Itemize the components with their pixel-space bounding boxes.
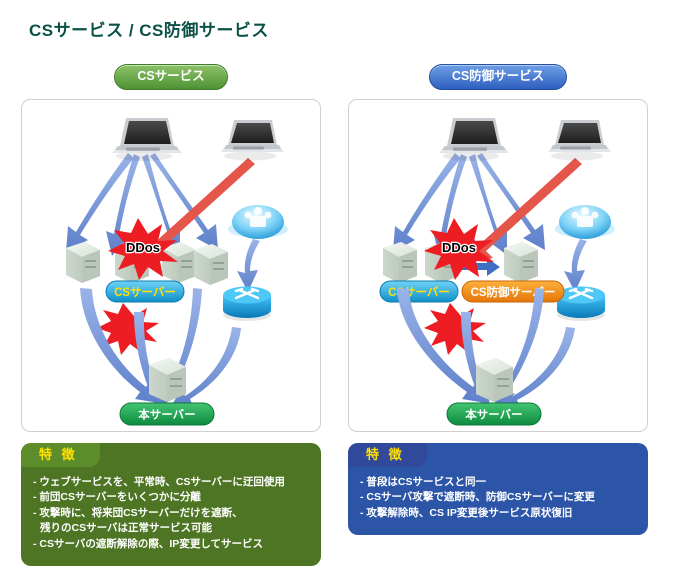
ddos-label: DDos [126, 240, 160, 255]
mid-server-icon-1 [66, 242, 100, 283]
laptop-icon-2 [221, 120, 284, 161]
cloud-icon [555, 205, 615, 239]
feature-box-cs-service: 特 徴 - ウェブサービスを、平常時、CSサーバーに迂回使用 - 前団CSサーバ… [21, 443, 321, 566]
cloud-icon [228, 205, 288, 239]
laptop-icon-2 [548, 120, 611, 161]
diagram-cs-defense-service: DDos CSサーバー CS防御サーバー [348, 99, 648, 432]
column-heading-cs-service: CSサービス [114, 64, 227, 90]
bottom-server-icon [476, 358, 513, 402]
bottom-server-icon [149, 358, 186, 402]
feature-tab-label: 特 徴 [366, 448, 405, 461]
svg-text:CSサーバー: CSサーバー [388, 286, 450, 299]
list-item: 残りのCSサーバは正常サービス可能 [33, 521, 311, 537]
ddos-label: DDos [442, 240, 476, 255]
cs-server-pill: CSサーバー [106, 281, 184, 302]
list-item: - ウェブサービスを、平常時、CSサーバーに迂回使用 [33, 475, 311, 491]
mid-server-icon-4 [194, 244, 228, 285]
column-cs-service: CSサービス [21, 64, 321, 566]
list-item: - 攻撃解除時、CS IP変更後サービス原状復旧 [360, 506, 638, 522]
feature-tab-label: 特 徴 [39, 448, 78, 461]
feature-box-cs-defense-service: 特 徴 - 普段はCSサービスと同一 - CSサーバ攻撃で遮断時、防御CSサーバ… [348, 443, 648, 536]
svg-text:CSサーバー: CSサーバー [114, 286, 176, 299]
laptop-icon-1 [112, 118, 182, 161]
defense-server-pill: CS防御サーバー [462, 281, 564, 302]
feature-list-cs-defense-service: - 普段はCSサービスと同一 - CSサーバ攻撃で遮断時、防御CSサーバーに変更… [360, 475, 638, 522]
list-item: - CSサーバ攻撃で遮断時、防御CSサーバーに変更 [360, 490, 638, 506]
mid-server-icon-3 [162, 242, 196, 283]
list-item: - 攻撃時に、将来団CSサーバーだけを遮断、 [33, 506, 311, 522]
cs-server-pill: CSサーバー [380, 281, 458, 302]
main-server-pill: 本サーバー [447, 403, 541, 425]
main-server-pill: 本サーバー [120, 403, 214, 425]
feature-list-cs-service: - ウェブサービスを、平常時、CSサーバーに迂回使用 - 前団CSサーバーをいく… [33, 475, 311, 553]
svg-text:本サーバー: 本サーバー [464, 407, 522, 421]
list-item: - CSサーバの遮断解除の際、IP変更してサービス [33, 537, 311, 553]
router-icon [223, 286, 271, 321]
mid-server-icon-1 [383, 242, 417, 283]
feature-tab-cs-service: 特 徴 [21, 443, 100, 467]
svg-text:本サーバー: 本サーバー [137, 407, 195, 421]
list-item: - 普段はCSサービスと同一 [360, 475, 638, 491]
diagram-cs-service: DDos CSサーバー [21, 99, 321, 432]
cloud-to-router-arrow [564, 239, 587, 292]
mid-server-icon-3 [504, 242, 538, 283]
column-cs-defense-service: CS防御サービス [348, 64, 648, 535]
secondary-burst-icon [424, 303, 486, 355]
page-title: CSサービス / CS防御サービス [29, 16, 269, 41]
feature-tab-cs-defense-service: 特 徴 [348, 443, 427, 467]
list-item: - 前団CSサーバーをいくつかに分離 [33, 490, 311, 506]
column-heading-cs-defense-service: CS防御サービス [429, 64, 567, 90]
laptop-icon-1 [439, 118, 509, 161]
cloud-to-router-arrow [237, 239, 260, 292]
